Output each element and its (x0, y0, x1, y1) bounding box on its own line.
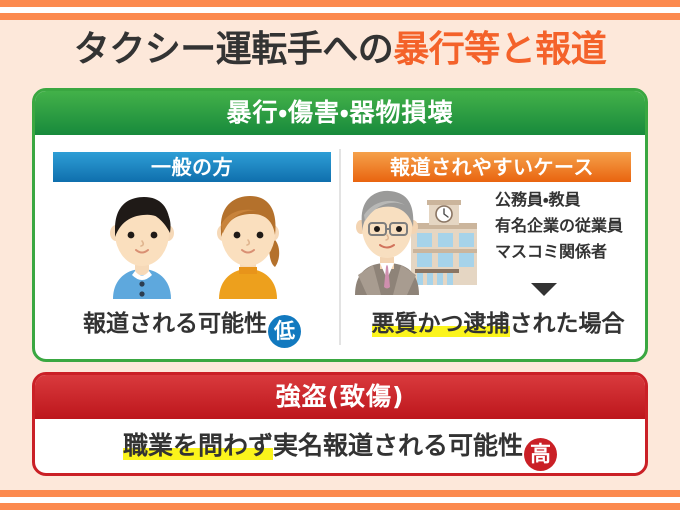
likelihood-badge-high: 高 (524, 438, 557, 471)
general-public-illustration (53, 189, 331, 299)
reported-cases-result-rest: された場合 (510, 311, 625, 337)
robbery-result-rest: 実名報道される可能性 (273, 431, 523, 460)
list-item: マスコミ関係者 (495, 239, 648, 265)
robbery-panel-body: 職業を問わず実名報道される可能性高 (35, 419, 645, 473)
general-public-result: 報道される可能性低 (53, 307, 331, 348)
frame-bar-top-outer (0, 0, 680, 7)
likelihood-badge-low: 低 (268, 315, 301, 348)
assault-panel-header: 暴行・傷害・器物損壊 (35, 91, 645, 135)
column-divider (339, 149, 341, 345)
robbery-panel-header: 強盗(致傷) (35, 375, 645, 419)
subheader-general-public: 一般の方 (53, 152, 331, 182)
assault-panel: 暴行・傷害・器物損壊 一般の方 (32, 88, 648, 362)
frame-bar-bottom-outer (0, 503, 680, 510)
list-item: 公務員・教員 (495, 187, 648, 213)
robbery-panel: 強盗(致傷) 職業を問わず実名報道される可能性高 (32, 372, 648, 476)
businessman-school-illustration (353, 187, 483, 295)
arrow-down-icon (531, 283, 557, 296)
reported-cases-result: 悪質かつ逮捕された場合 (353, 307, 643, 341)
general-public-result-text: 報道される可能性 (83, 311, 267, 337)
young-woman-icon (205, 193, 291, 299)
reported-cases-list: 公務員・教員 有名企業の従業員 マスコミ関係者 (495, 187, 648, 265)
page-title-accent: 暴行等と報道 (393, 29, 606, 70)
subheader-reported-cases: 報道されやすいケース (353, 152, 631, 182)
frame-bar-top-inner (0, 13, 680, 20)
page-title-plain: タクシー運転手への (74, 29, 394, 70)
reported-cases-result-highlight: 悪質かつ逮捕 (372, 311, 510, 337)
page-title: タクシー運転手への暴行等と報道 (0, 26, 680, 74)
list-item: 有名企業の従業員 (495, 213, 648, 239)
frame-bar-bottom-inner (0, 490, 680, 497)
robbery-result-highlight: 職業を問わず (123, 431, 273, 460)
young-man-icon (99, 193, 185, 299)
assault-panel-body: 一般の方 (35, 135, 645, 359)
